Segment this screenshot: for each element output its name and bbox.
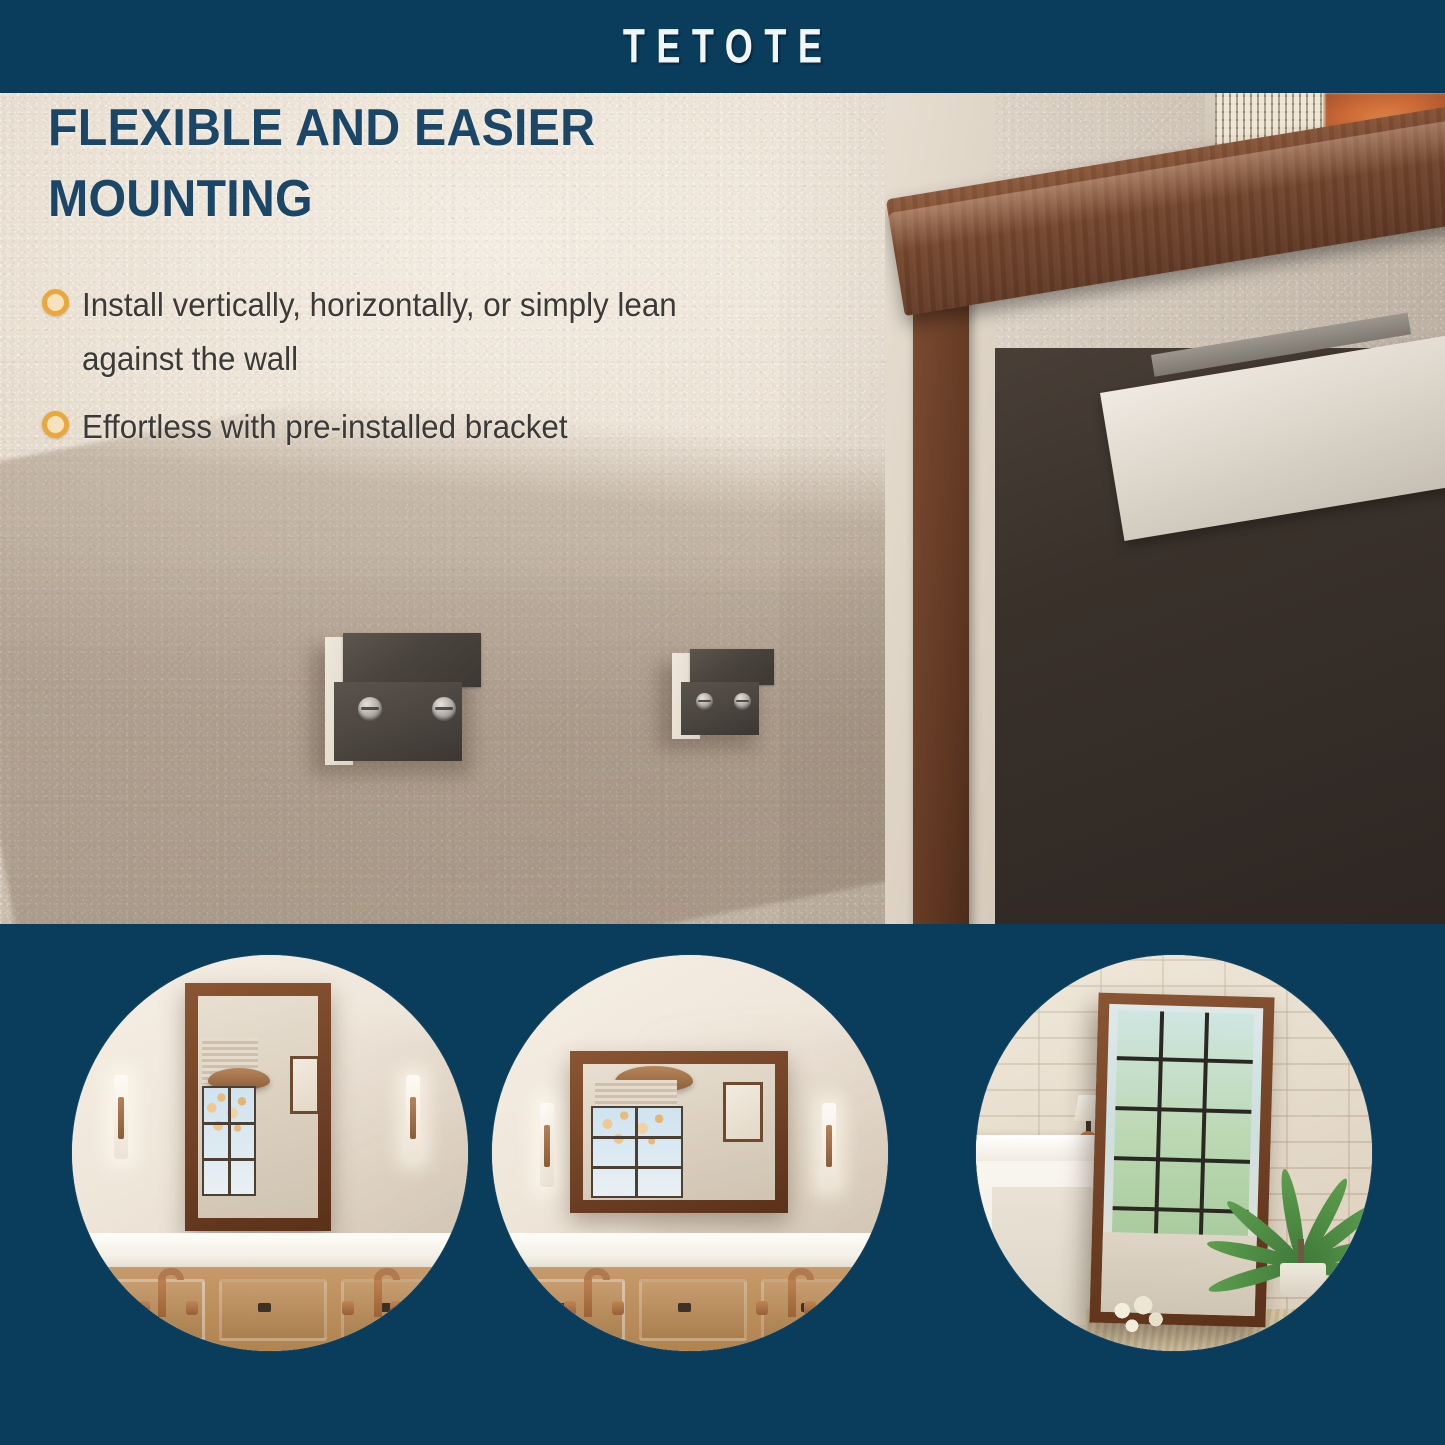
wall-sconce-left	[114, 1075, 128, 1159]
wall-bracket-left	[325, 633, 485, 761]
faucet-handle	[756, 1301, 768, 1315]
bracket-face	[334, 682, 462, 761]
product-infographic: TETOTE	[0, 0, 1445, 1445]
window-reflection	[591, 1106, 683, 1198]
wall-sconce-left	[540, 1103, 554, 1187]
bathroom-vanity	[72, 1233, 468, 1351]
faucet-right	[374, 1275, 382, 1317]
faucet-handle	[138, 1301, 150, 1315]
faucet-handle	[804, 1301, 816, 1315]
brand-logo: TETOTE	[611, 19, 833, 74]
mounting-options-panel: Vertical Horizontal Lean against the wal…	[0, 924, 1445, 1445]
wall-sconce-right	[406, 1075, 420, 1159]
vanity-cabinet	[492, 1267, 888, 1351]
page-title: FLEXIBLE AND EASIER MOUNTING	[48, 93, 643, 234]
bracket-screw	[696, 693, 713, 710]
mirror-glass	[198, 996, 318, 1218]
bullet-text: Effortless with pre-installed bracket	[82, 400, 568, 454]
mirror-corner-closeup	[885, 93, 1445, 924]
option-photo-lean	[976, 955, 1372, 1351]
bullet-ring-icon	[42, 411, 69, 438]
bathroom-vanity	[492, 1233, 888, 1351]
framed-art-reflection	[723, 1082, 763, 1142]
bracket-screw	[358, 697, 382, 721]
mirror-horizontal	[570, 1051, 788, 1213]
bullet-ring-icon	[42, 289, 69, 316]
mirror-frame-left	[913, 297, 969, 924]
countertop	[72, 1233, 468, 1267]
feature-bullet-list: Install vertically, horizontally, or sim…	[42, 278, 742, 468]
faucet-left	[584, 1275, 592, 1317]
hydrangea-flowers	[1104, 1289, 1174, 1343]
faucet-handle	[342, 1301, 354, 1315]
faucet-right	[788, 1275, 796, 1317]
bracket-lip	[343, 633, 481, 687]
list-item: Install vertically, horizontally, or sim…	[42, 278, 742, 386]
faucet-handle	[390, 1301, 402, 1315]
vanity-cabinet	[72, 1267, 468, 1351]
bracket-screw	[734, 693, 751, 710]
wall-sconce-right	[822, 1103, 836, 1187]
option-photo-horizontal	[492, 955, 888, 1351]
option-thumbnails	[0, 924, 1445, 1445]
faucet-handle	[564, 1301, 576, 1315]
window-reflection	[202, 1086, 256, 1196]
potted-palm	[1236, 1077, 1366, 1297]
bracket-face	[681, 682, 759, 735]
brand-bar: TETOTE	[0, 0, 1445, 93]
faucet-left	[158, 1275, 166, 1317]
countertop	[492, 1233, 888, 1267]
wall-bracket-right	[672, 649, 770, 735]
option-photo-vertical	[72, 955, 468, 1351]
mirror-vertical	[185, 983, 331, 1231]
faucet-handle	[186, 1301, 198, 1315]
framed-art-reflection	[290, 1056, 318, 1114]
bullet-text: Install vertically, horizontally, or sim…	[82, 278, 709, 386]
bracket-screw	[432, 697, 456, 721]
bracket-lip	[690, 649, 774, 685]
mirror-glass	[583, 1064, 775, 1200]
list-item: Effortless with pre-installed bracket	[42, 400, 742, 454]
faucet-handle	[612, 1301, 624, 1315]
